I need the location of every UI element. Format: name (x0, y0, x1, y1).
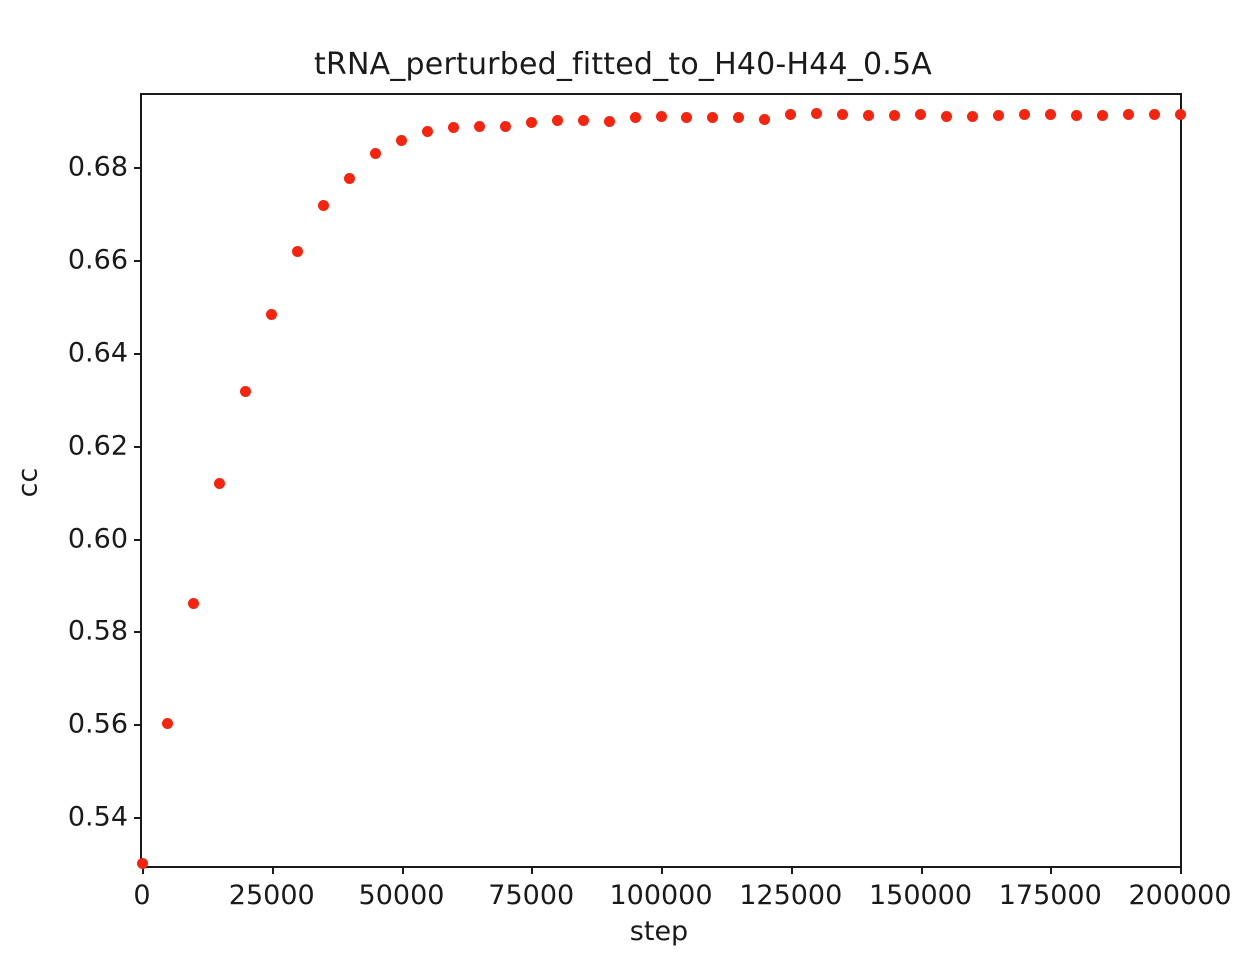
data-point (759, 114, 770, 125)
scatter-series-cc (142, 95, 1180, 866)
data-point (188, 598, 199, 609)
data-point (837, 109, 848, 120)
x-tick-mark (1050, 866, 1052, 874)
x-tick-mark (402, 866, 404, 874)
chart-figure: tRNA_perturbed_fitted_to_H40-H44_0.5A cc… (0, 0, 1246, 965)
data-point (292, 246, 303, 257)
x-tick-label: 150000 (869, 880, 972, 911)
y-axis-label-text: cc (12, 468, 43, 498)
data-point (552, 115, 563, 126)
data-point (707, 112, 718, 123)
data-point (1019, 109, 1030, 120)
data-point (1149, 109, 1160, 120)
x-tick-mark (1180, 866, 1182, 874)
data-point (137, 858, 148, 869)
x-tick-label: 50000 (359, 880, 445, 911)
data-point (630, 112, 641, 123)
data-point (448, 122, 459, 133)
data-point (1175, 109, 1186, 120)
x-tick-label: 125000 (739, 880, 842, 911)
x-axis-label: step (140, 916, 1178, 947)
data-point (811, 108, 822, 119)
y-tick-mark (134, 167, 142, 169)
data-point (785, 109, 796, 120)
data-point (422, 126, 433, 137)
data-point (941, 111, 952, 122)
data-point (240, 386, 251, 397)
x-tick-label: 75000 (488, 880, 574, 911)
data-point (915, 109, 926, 120)
y-tick-mark (134, 631, 142, 633)
x-tick-label: 0 (133, 880, 150, 911)
y-tick-label: 0.60 (68, 523, 128, 554)
x-tick-mark (921, 866, 923, 874)
data-point (656, 111, 667, 122)
y-tick-mark (134, 353, 142, 355)
y-tick-mark (134, 724, 142, 726)
data-point (1097, 110, 1108, 121)
chart-title: tRNA_perturbed_fitted_to_H40-H44_0.5A (0, 47, 1246, 82)
y-tick-label: 0.66 (68, 244, 128, 275)
data-point (1123, 109, 1134, 120)
data-point (967, 111, 978, 122)
y-tick-label: 0.68 (68, 151, 128, 182)
data-point (214, 478, 225, 489)
data-point (993, 110, 1004, 121)
x-tick-label: 100000 (609, 880, 712, 911)
data-point (344, 173, 355, 184)
x-tick-mark (272, 866, 274, 874)
data-point (474, 121, 485, 132)
x-tick-label: 175000 (999, 880, 1102, 911)
y-tick-label: 0.58 (68, 616, 128, 647)
x-tick-label: 25000 (229, 880, 315, 911)
x-tick-mark (791, 866, 793, 874)
x-tick-mark (531, 866, 533, 874)
data-point (733, 112, 744, 123)
data-point (526, 117, 537, 128)
data-point (863, 110, 874, 121)
y-tick-label: 0.64 (68, 337, 128, 368)
x-tick-label: 200000 (1128, 880, 1231, 911)
x-tick-mark (661, 866, 663, 874)
data-point (681, 112, 692, 123)
data-point (396, 135, 407, 146)
data-point (266, 309, 277, 320)
plot-area: 0.540.560.580.600.620.640.660.68 0250005… (140, 93, 1182, 868)
data-point (162, 718, 173, 729)
y-tick-label: 0.62 (68, 430, 128, 461)
data-point (370, 148, 381, 159)
y-tick-label: 0.54 (68, 802, 128, 833)
y-tick-mark (134, 446, 142, 448)
data-point (604, 116, 615, 127)
data-point (500, 121, 511, 132)
y-tick-label: 0.56 (68, 709, 128, 740)
y-tick-mark (134, 817, 142, 819)
y-axis-label: cc (8, 0, 48, 965)
data-point (578, 115, 589, 126)
y-tick-mark (134, 260, 142, 262)
data-point (889, 110, 900, 121)
y-tick-mark (134, 539, 142, 541)
data-point (318, 200, 329, 211)
data-point (1071, 110, 1082, 121)
data-point (1045, 109, 1056, 120)
